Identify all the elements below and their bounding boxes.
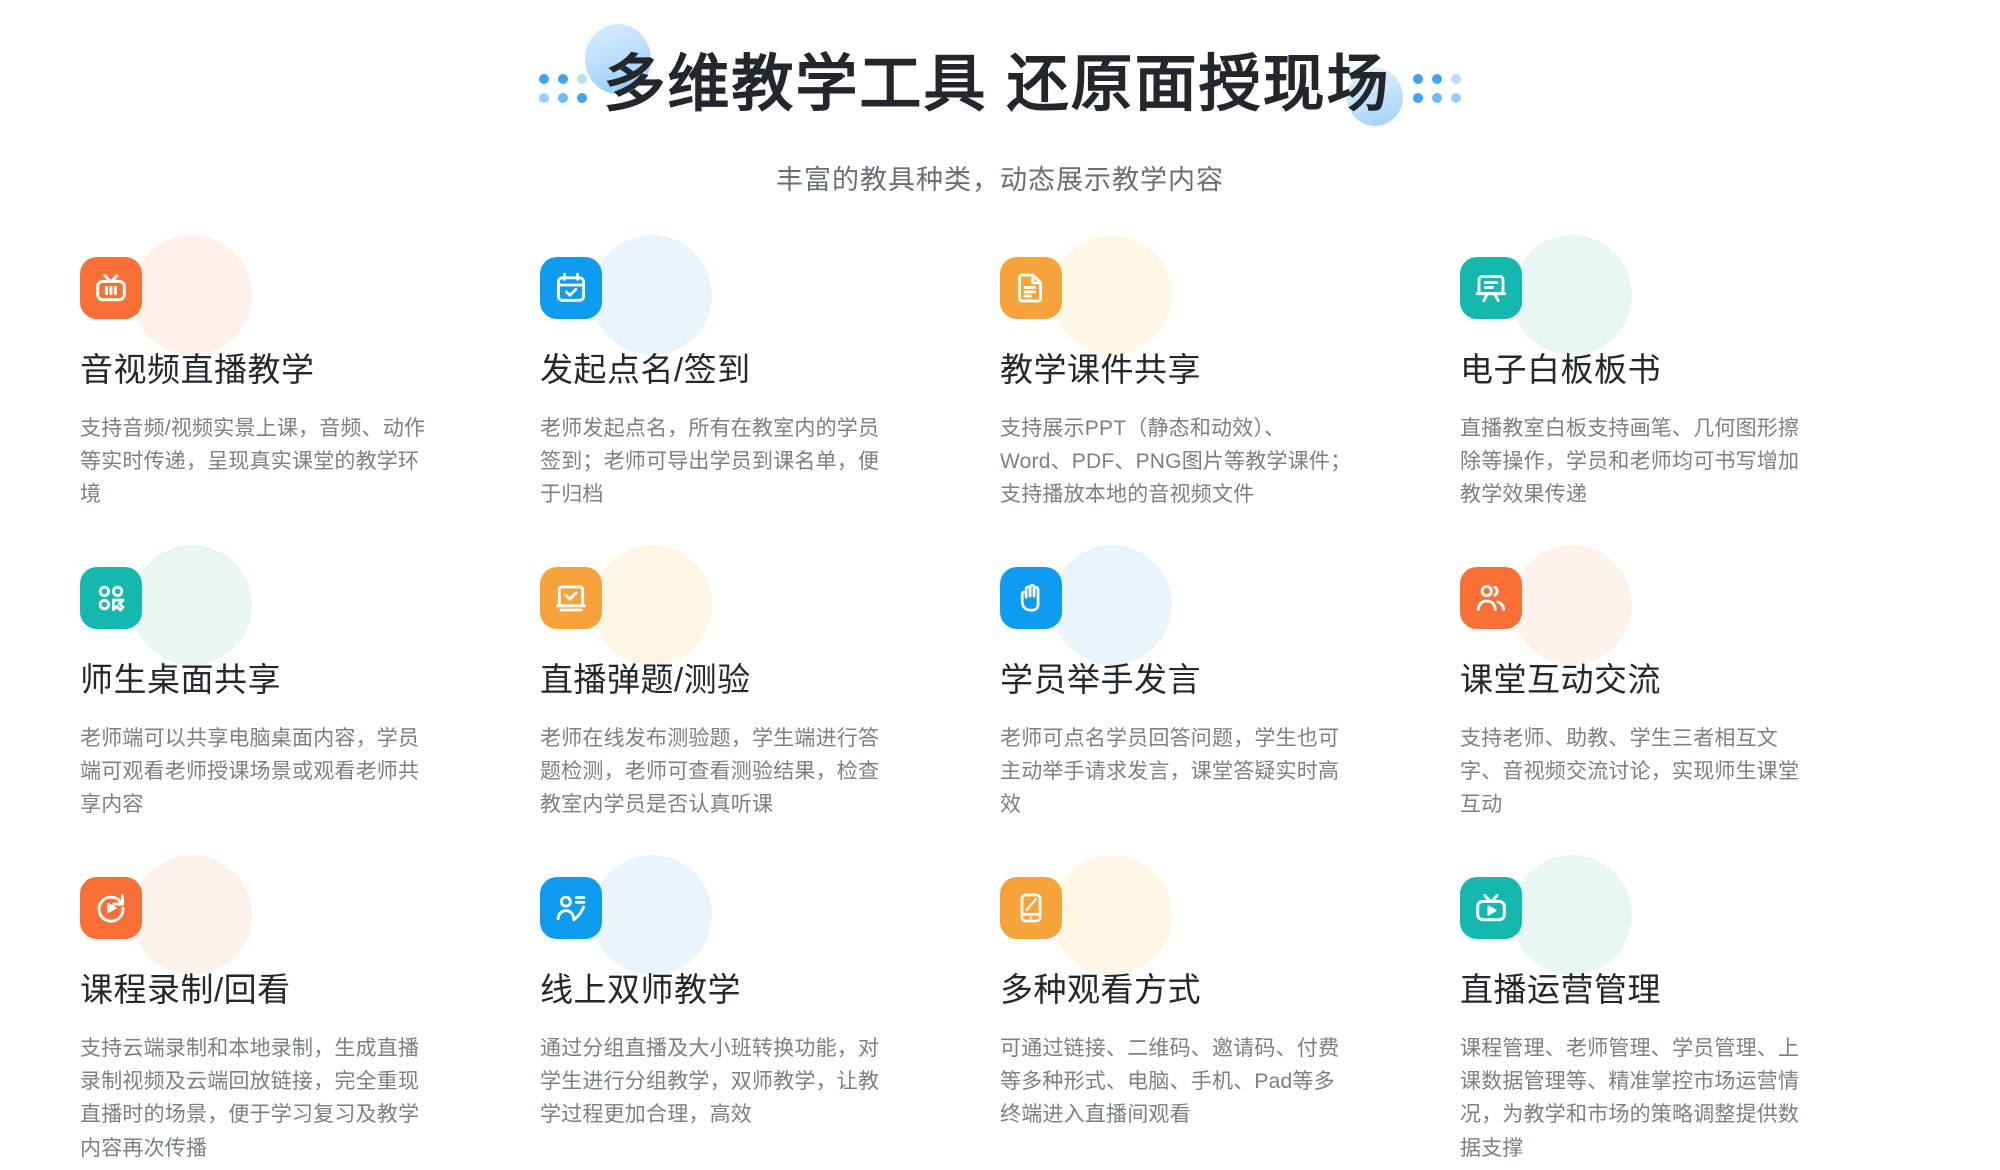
feature-desc: 支持云端录制和本地录制，生成直播录制视频及云端回放链接，完全重现直播时的场景，便… [80,1032,432,1165]
feature-desc: 支持老师、助教、学生三者相互文字、音视频交流讨论，实现师生课堂互动 [1460,722,1812,822]
decor-blob [1052,545,1172,665]
decor-blob [132,855,252,975]
replay-record-icon [80,877,142,939]
feature-title: 课堂互动交流 [1460,653,1810,701]
feature-title: 直播弹题/测验 [540,653,890,701]
feature-grid: 音视频直播教学 支持音频/视频实景上课，音频、动作等实时传递，呈现真实课堂的教学… [80,257,1920,1170]
feature-desc: 老师在线发布测验题，学生端进行答题检测，老师可查看测验结果，检查教室内学员是否认… [540,722,892,822]
feature-desc: 可通过链接、二维码、邀请码、付费等多种形式、电脑、手机、Pad等多终端进入直播间… [1000,1032,1352,1132]
decor-blob [592,235,712,355]
features-page: 多维教学工具 还原面授现场 丰富的教具种类，动态展示教学内容 [0,0,2000,1170]
feature-card[interactable]: 师生桌面共享 老师端可以共享电脑桌面内容，学员端可观看老师授课场景或观看老师共享… [80,567,540,877]
feature-card[interactable]: 直播弹题/测验 老师在线发布测验题，学生端进行答题检测，老师可查看测验结果，检查… [540,567,1000,877]
decor-blob [1512,545,1632,665]
decor-blob [132,545,252,665]
decor-blob [1052,855,1172,975]
dot-grid-left-icon [539,74,587,103]
feature-card[interactable]: 多种观看方式 可通过链接、二维码、邀请码、付费等多种形式、电脑、手机、Pad等多… [1000,877,1460,1170]
feature-title: 直播运营管理 [1460,963,1810,1011]
feature-card[interactable]: 电子白板板书 直播教室白板支持画笔、几何图形擦除等操作，学员和老师均可书写增加教… [1460,257,1920,567]
live-tv-icon [80,257,142,319]
live-manage-tv-icon [1460,877,1522,939]
decor-blob [1512,235,1632,355]
page-subtitle: 丰富的教具种类，动态展示教学内容 [0,158,2000,197]
feature-desc: 老师可点名学员回答问题，学生也可主动举手请求发言，课堂答疑实时高效 [1000,722,1352,822]
page-header: 多维教学工具 还原面授现场 丰富的教具种类，动态展示教学内容 [0,0,2000,197]
feature-desc: 直播教室白板支持画笔、几何图形擦除等操作，学员和老师均可书写增加教学效果传递 [1460,412,1812,512]
feature-card[interactable]: 课程录制/回看 支持云端录制和本地录制，生成直播录制视频及云端回放链接，完全重现… [80,877,540,1170]
feature-card[interactable]: 直播运营管理 课程管理、老师管理、学员管理、上课数据管理等、精准掌控市场运营情况… [1460,877,1920,1170]
decor-blob [592,545,712,665]
whiteboard-icon [1460,257,1522,319]
decor-blob [592,855,712,975]
feature-card[interactable]: 课堂互动交流 支持老师、助教、学生三者相互文字、音视频交流讨论，实现师生课堂互动 [1460,567,1920,877]
mobile-device-icon [1000,877,1062,939]
feature-desc: 老师发起点名，所有在教室内的学员签到；老师可导出学员到课名单，便于归档 [540,412,892,512]
quiz-checkbox-icon [540,567,602,629]
feature-card[interactable]: 教学课件共享 支持展示PPT（静态和动效）、Word、PDF、PNG图片等教学课… [1000,257,1460,567]
feature-desc: 老师端可以共享电脑桌面内容，学员端可观看老师授课场景或观看老师共享内容 [80,722,432,822]
feature-desc: 支持音频/视频实景上课，音频、动作等实时传递，呈现真实课堂的教学环境 [80,412,432,512]
feature-title: 师生桌面共享 [80,653,430,701]
calendar-check-icon [540,257,602,319]
title-row: 多维教学工具 还原面授现场 [539,42,1460,128]
feature-desc: 通过分组直播及大小班转换功能，对学生进行分组教学，双师教学，让教学过程更加合理，… [540,1032,892,1132]
feature-card[interactable]: 线上双师教学 通过分组直播及大小班转换功能，对学生进行分组教学，双师教学，让教学… [540,877,1000,1170]
decor-blob [1512,855,1632,975]
document-lines-icon [1000,257,1062,319]
feature-title: 多种观看方式 [1000,963,1350,1011]
feature-card[interactable]: 音视频直播教学 支持音频/视频实景上课，音频、动作等实时传递，呈现真实课堂的教学… [80,257,540,567]
feature-desc: 课程管理、老师管理、学员管理、上课数据管理等、精准掌控市场运营情况，为教学和市场… [1460,1032,1812,1165]
feature-title: 电子白板板书 [1460,343,1810,391]
page-title: 多维教学工具 还原面授现场 [603,54,1390,116]
feature-desc: 支持展示PPT（静态和动效）、Word、PDF、PNG图片等教学课件；支持播放本… [1000,412,1352,512]
dual-teacher-icon [540,877,602,939]
feature-card[interactable]: 学员举手发言 老师可点名学员回答问题，学生也可主动举手请求发言，课堂答疑实时高效 [1000,567,1460,877]
feature-title: 音视频直播教学 [80,343,430,391]
feature-title: 发起点名/签到 [540,343,890,391]
decor-blob [132,235,252,355]
screen-share-icon [80,567,142,629]
feature-title: 课程录制/回看 [80,963,430,1011]
raise-hand-icon [1000,567,1062,629]
feature-title: 教学课件共享 [1000,343,1350,391]
dot-grid-right-icon [1413,74,1461,103]
group-users-icon [1460,567,1522,629]
feature-title: 线上双师教学 [540,963,890,1011]
feature-title: 学员举手发言 [1000,653,1350,701]
decor-blob [1052,235,1172,355]
feature-card[interactable]: 发起点名/签到 老师发起点名，所有在教室内的学员签到；老师可导出学员到课名单，便… [540,257,1000,567]
